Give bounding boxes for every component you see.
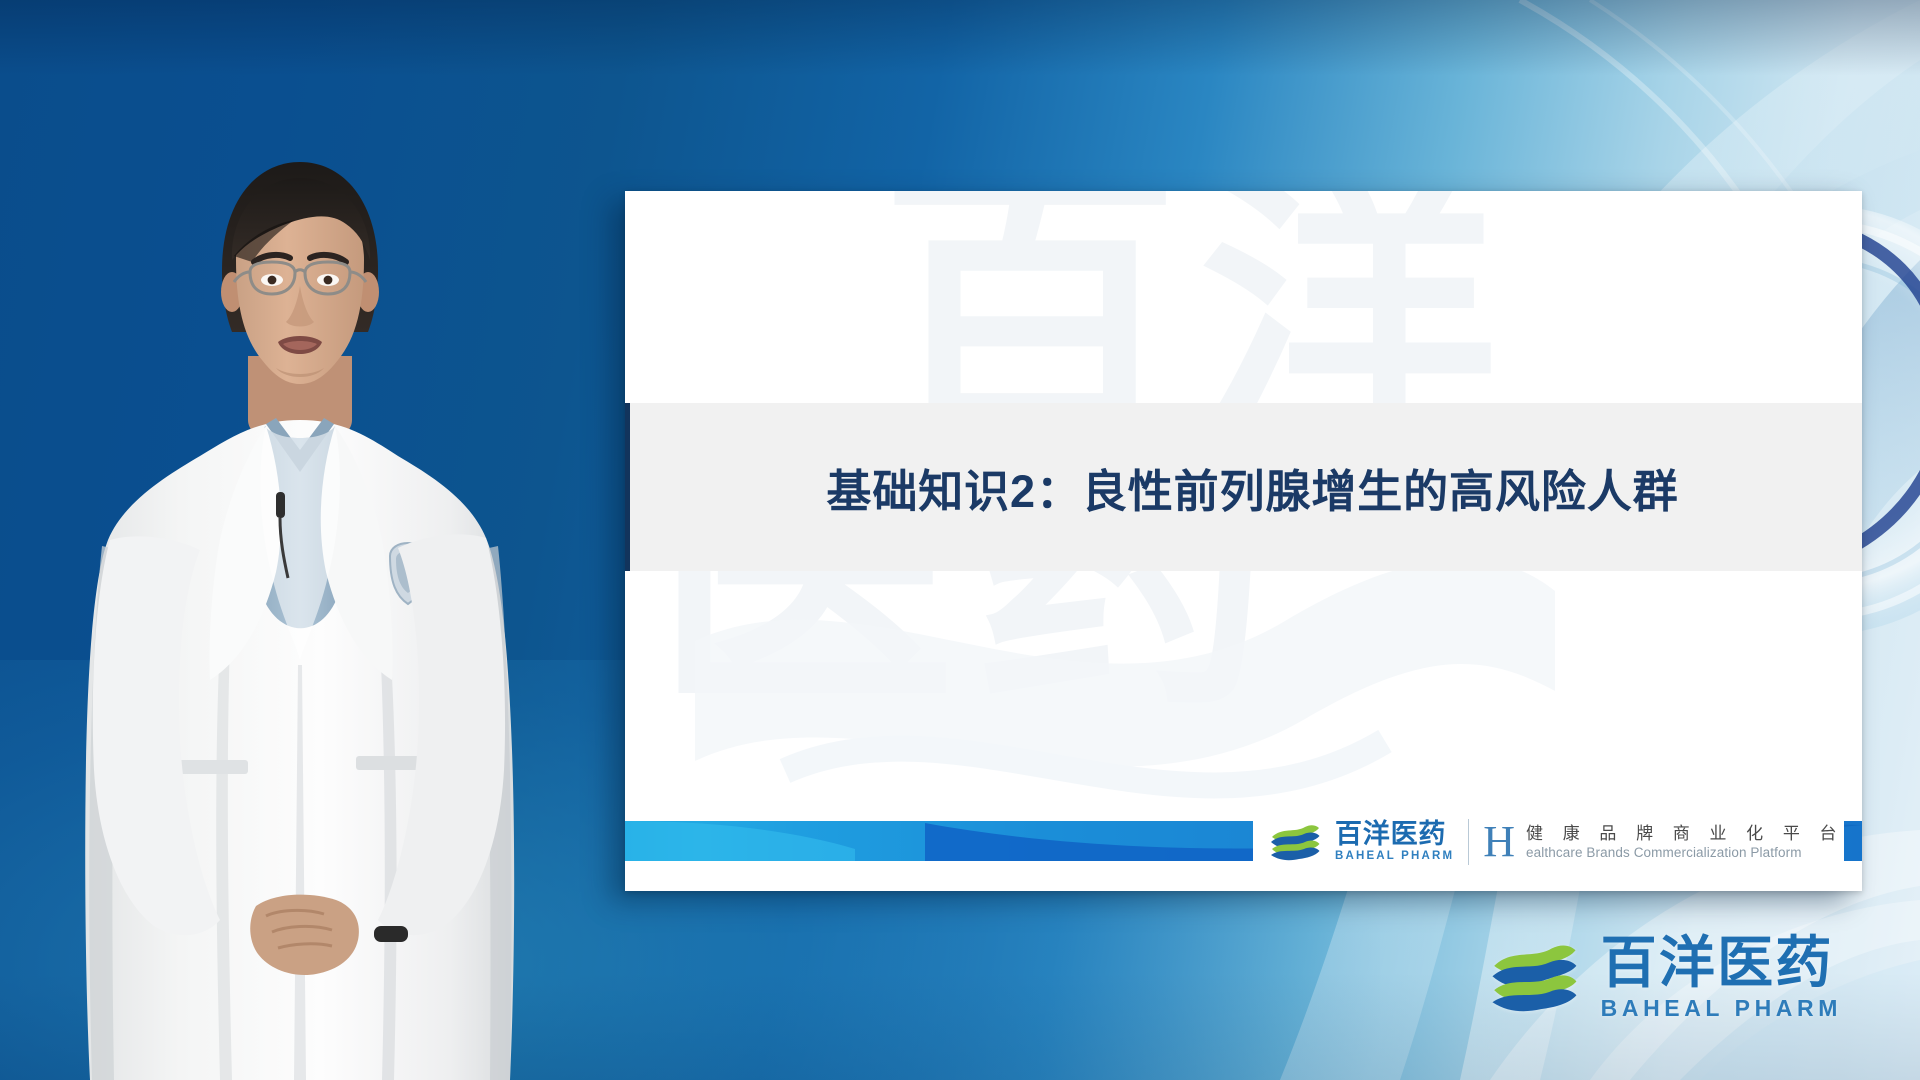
presentation-slide[interactable]: 百洋 医药 基础知识2：良性前列腺增生的高风险人群	[625, 191, 1862, 891]
footer-brand-wordmark: 百洋医药 BAHEAL PHARM	[1335, 820, 1454, 863]
footer-brand-lockup: 百洋医药 BAHEAL PHARM H 健 康 品 牌 商 业 化 平 台 ea…	[1253, 813, 1844, 871]
baheal-wave-logo-icon	[1489, 942, 1579, 1014]
overlay-brand-cn: 百洋医药	[1601, 934, 1842, 991]
tagline-block: 健 康 品 牌 商 业 化 平 台 ealthcare Brands Comme…	[1526, 823, 1844, 860]
overlay-brand-watermark: 百洋医药 BAHEAL PHARM	[1489, 934, 1842, 1022]
video-stage: 百洋 医药 基础知识2：良性前列腺增生的高风险人群	[0, 0, 1920, 1080]
overlay-brand-en: BAHEAL PHARM	[1601, 995, 1842, 1022]
footer-brand-en: BAHEAL PHARM	[1335, 850, 1454, 864]
doctor-in-white-coat	[80, 120, 520, 1080]
tagline-cn: 健 康 品 牌 商 业 化 平 台	[1526, 823, 1844, 844]
footer-brand-cn: 百洋医药	[1335, 820, 1454, 848]
baheal-wave-logo-icon	[1269, 822, 1321, 862]
slide-watermark-line1: 百洋	[880, 191, 1516, 439]
overlay-brand-text: 百洋医药 BAHEAL PHARM	[1601, 934, 1842, 1022]
tagline-initial: H	[1483, 822, 1515, 862]
slide-footer: 百洋医药 BAHEAL PHARM H 健 康 品 牌 商 业 化 平 台 ea…	[625, 795, 1862, 891]
page-title: 基础知识2：良性前列腺增生的高风险人群	[625, 455, 1862, 520]
vertical-divider-icon	[1468, 819, 1469, 865]
tagline-en: ealthcare Brands Commercialization Platf…	[1526, 845, 1844, 861]
slide-title-band: 基础知识2：良性前列腺增生的高风险人群	[625, 403, 1862, 571]
